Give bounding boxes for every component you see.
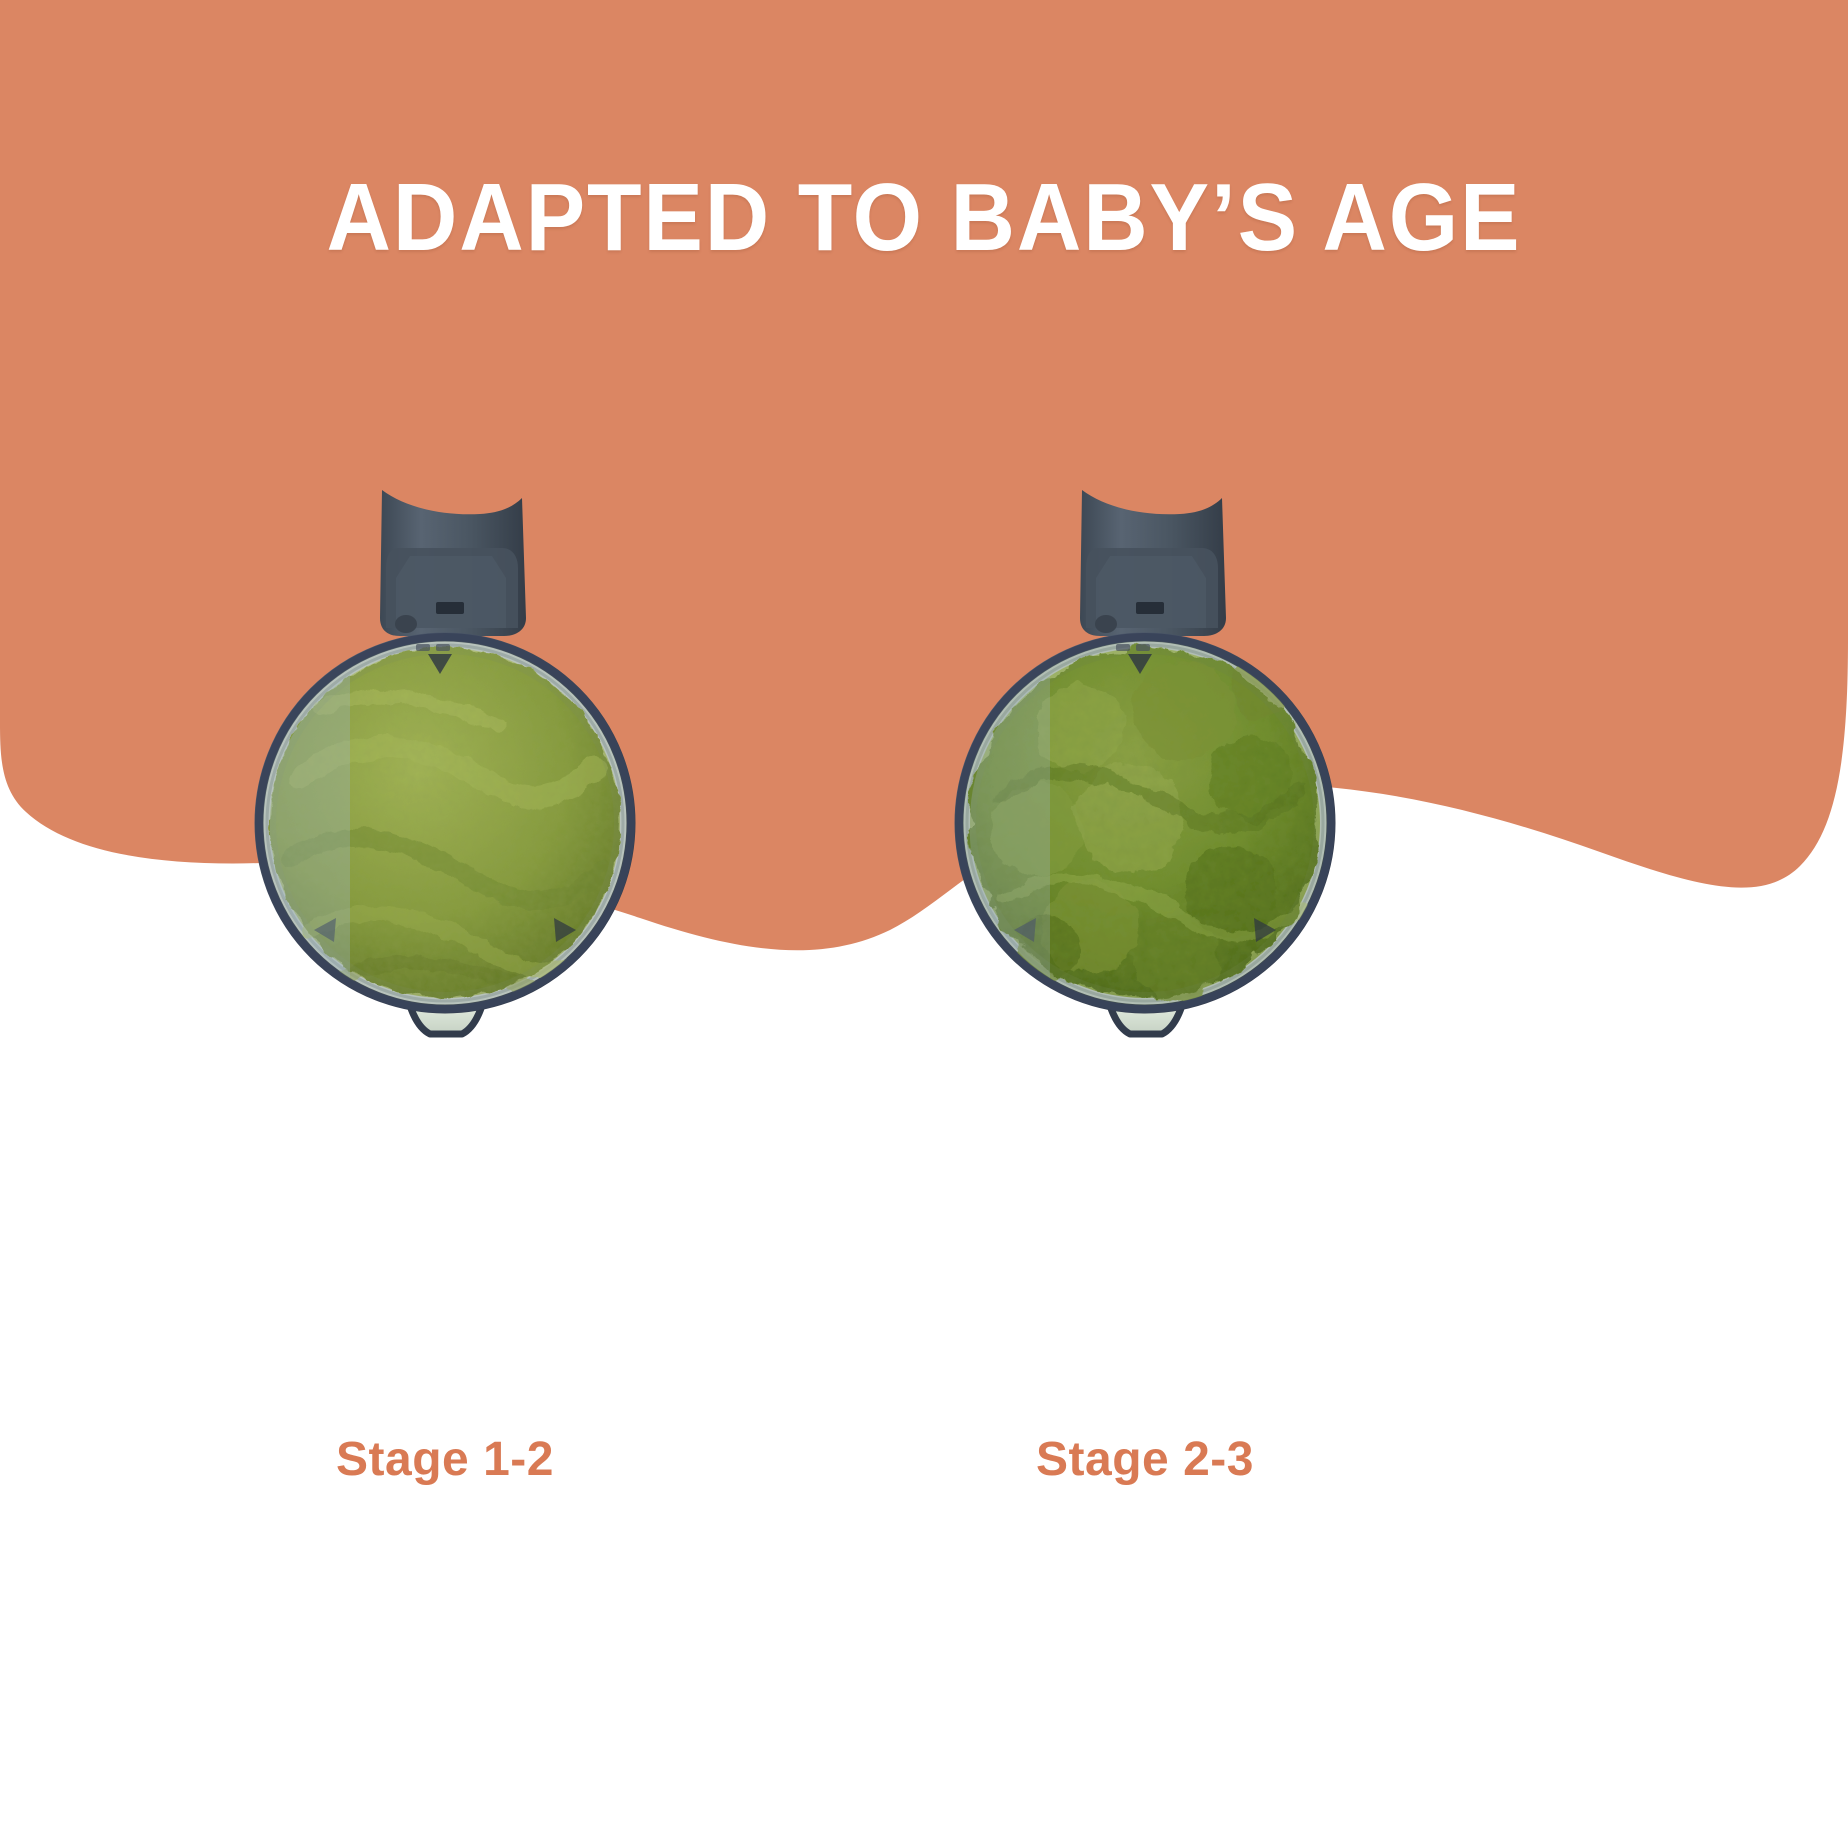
stage-label-right: Stage 2-3 [930,1432,1360,1487]
puree-contents-smooth [269,644,621,999]
marketing-infographic: ADAPTED TO BABY’S AGE [0,0,1848,1848]
product-image-stage-2-3 [930,478,1360,1118]
jug-handle-icon [380,490,526,636]
jug-handle-icon [1080,490,1226,636]
puree-contents-chunky [969,644,1321,1002]
product-image-stage-1-2 [230,478,660,1118]
page-title: ADAPTED TO BABY’S AGE [65,168,1784,269]
stage-label-left: Stage 1-2 [230,1432,660,1487]
